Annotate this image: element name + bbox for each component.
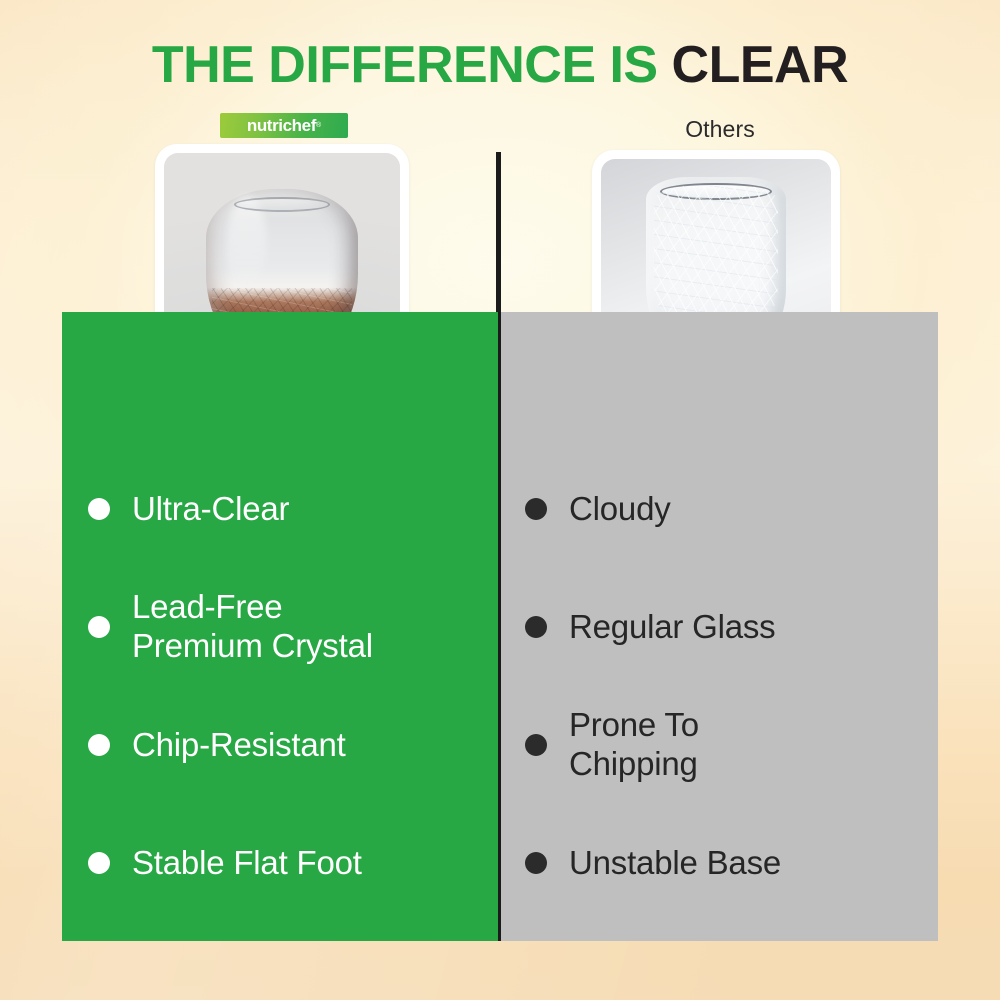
list-item-label: Prone To Chipping bbox=[569, 706, 699, 784]
list-item-label: Chip-Resistant bbox=[132, 726, 346, 765]
list-item-label: Lead-Free Premium Crystal bbox=[132, 588, 373, 666]
list-item: Chip-Resistant bbox=[88, 686, 480, 804]
list-item: Unstable Base bbox=[525, 804, 920, 922]
nutrichef-logo-badge: nutrichef® bbox=[220, 113, 348, 138]
list-item: Prone To Chipping bbox=[525, 686, 920, 804]
nutrichef-feature-panel: Ultra-Clear Lead-Free Premium Crystal Ch… bbox=[62, 312, 498, 941]
bullet-dot-icon bbox=[88, 616, 110, 638]
nutrichef-feature-list: Ultra-Clear Lead-Free Premium Crystal Ch… bbox=[62, 450, 498, 922]
list-item-label: Regular Glass bbox=[569, 608, 776, 647]
list-item: Regular Glass bbox=[525, 568, 920, 686]
bullet-dot-icon bbox=[525, 734, 547, 756]
bullet-dot-icon bbox=[525, 852, 547, 874]
list-item-label: Ultra-Clear bbox=[132, 490, 289, 529]
list-item: Cloudy bbox=[525, 450, 920, 568]
list-item-label: Cloudy bbox=[569, 490, 671, 529]
bullet-dot-icon bbox=[525, 498, 547, 520]
bullet-dot-icon bbox=[88, 852, 110, 874]
title-dark-part: CLEAR bbox=[672, 36, 849, 94]
title-green-part: THE DIFFERENCE IS bbox=[152, 36, 658, 94]
glass-rim bbox=[234, 197, 330, 212]
others-feature-list: Cloudy Regular Glass Prone To Chipping U… bbox=[501, 450, 938, 922]
list-item-label: Stable Flat Foot bbox=[132, 844, 362, 883]
list-item: Lead-Free Premium Crystal bbox=[88, 568, 480, 686]
list-item: Stable Flat Foot bbox=[88, 804, 480, 922]
bullet-dot-icon bbox=[88, 734, 110, 756]
others-column-label: Others bbox=[600, 116, 840, 143]
bullet-dot-icon bbox=[88, 498, 110, 520]
others-feature-panel: Cloudy Regular Glass Prone To Chipping U… bbox=[501, 312, 938, 941]
list-item-label: Unstable Base bbox=[569, 844, 781, 883]
list-item: Ultra-Clear bbox=[88, 450, 480, 568]
trademark-icon: ® bbox=[316, 122, 321, 129]
glass-rim bbox=[660, 183, 772, 200]
bullet-dot-icon bbox=[525, 616, 547, 638]
page-title: THE DIFFERENCE IS CLEAR bbox=[0, 38, 1000, 93]
nutrichef-logo-text: nutrichef bbox=[247, 117, 316, 134]
